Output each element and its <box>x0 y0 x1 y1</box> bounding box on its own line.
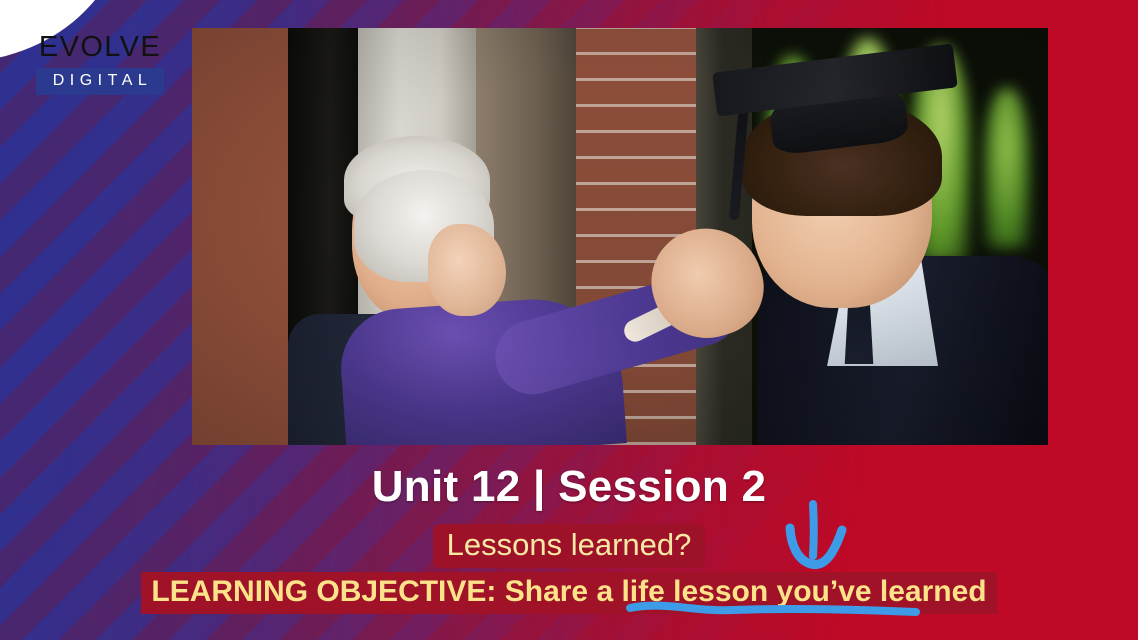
brand-logo: EVOLVE DIGITAL <box>36 32 164 95</box>
graduation-photo <box>192 28 1048 445</box>
subtitle-row: Lessons learned? <box>0 524 1138 568</box>
presentation-slide: EVOLVE DIGITAL <box>0 0 1138 640</box>
down-arrow-icon <box>782 500 862 574</box>
logo-primary-text: EVOLVE <box>36 32 164 62</box>
slide-subtitle: Lessons learned? <box>433 524 706 568</box>
underline-stroke-icon <box>624 596 924 620</box>
photo-vignette <box>192 28 1048 445</box>
logo-secondary-text: DIGITAL <box>36 68 164 94</box>
objective-row: LEARNING OBJECTIVE: Share a life lesson … <box>0 572 1138 614</box>
slide-title: Unit 12 | Session 2 <box>0 462 1138 512</box>
